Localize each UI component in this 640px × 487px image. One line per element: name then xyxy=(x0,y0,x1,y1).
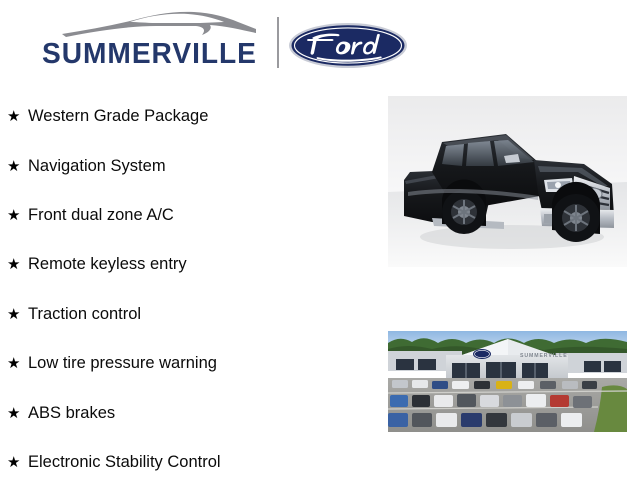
list-item: ★ Navigation System xyxy=(0,141,380,190)
list-item: ★ Remote keyless entry xyxy=(0,240,380,289)
logo-divider xyxy=(277,17,279,68)
list-item: ★ Front dual zone A/C xyxy=(0,191,380,240)
star-bullet-icon: ★ xyxy=(7,307,28,322)
star-bullet-icon: ★ xyxy=(7,406,28,421)
list-item: ★ ABS brakes xyxy=(0,388,380,437)
vehicle-photo xyxy=(388,96,627,267)
vehicle-feature-list: ★ Western Grade Package ★ Navigation Sys… xyxy=(0,92,380,487)
feature-label: Front dual zone A/C xyxy=(28,206,174,225)
star-bullet-icon: ★ xyxy=(7,208,28,223)
star-bullet-icon: ★ xyxy=(7,455,28,470)
feature-label: Western Grade Package xyxy=(28,107,208,126)
ford-logo-icon xyxy=(288,22,408,69)
car-silhouette-icon xyxy=(60,6,260,40)
list-item: ★ Traction control xyxy=(0,290,380,339)
feature-label: Traction control xyxy=(28,305,141,324)
list-item: ★ Low tire pressure warning xyxy=(0,339,380,388)
header-logo-lockup: SUMMERVILLE xyxy=(0,0,640,88)
star-bullet-icon: ★ xyxy=(7,159,28,174)
dealer-logo: SUMMERVILLE xyxy=(42,6,270,72)
star-bullet-icon: ★ xyxy=(7,109,28,124)
star-bullet-icon: ★ xyxy=(7,356,28,371)
star-bullet-icon: ★ xyxy=(7,257,28,272)
feature-label: Remote keyless entry xyxy=(28,255,187,274)
list-item: ★ Western Grade Package xyxy=(0,92,380,141)
feature-label: ABS brakes xyxy=(28,404,115,423)
dealership-sign-text: SUMMERVILLE xyxy=(520,353,568,359)
dealership-photo: SUMMERVILLE xyxy=(388,331,627,432)
feature-label: Electronic Stability Control xyxy=(28,453,221,472)
dealer-wordmark: SUMMERVILLE xyxy=(42,39,263,70)
feature-label: Low tire pressure warning xyxy=(28,354,217,373)
feature-label: Navigation System xyxy=(28,157,166,176)
